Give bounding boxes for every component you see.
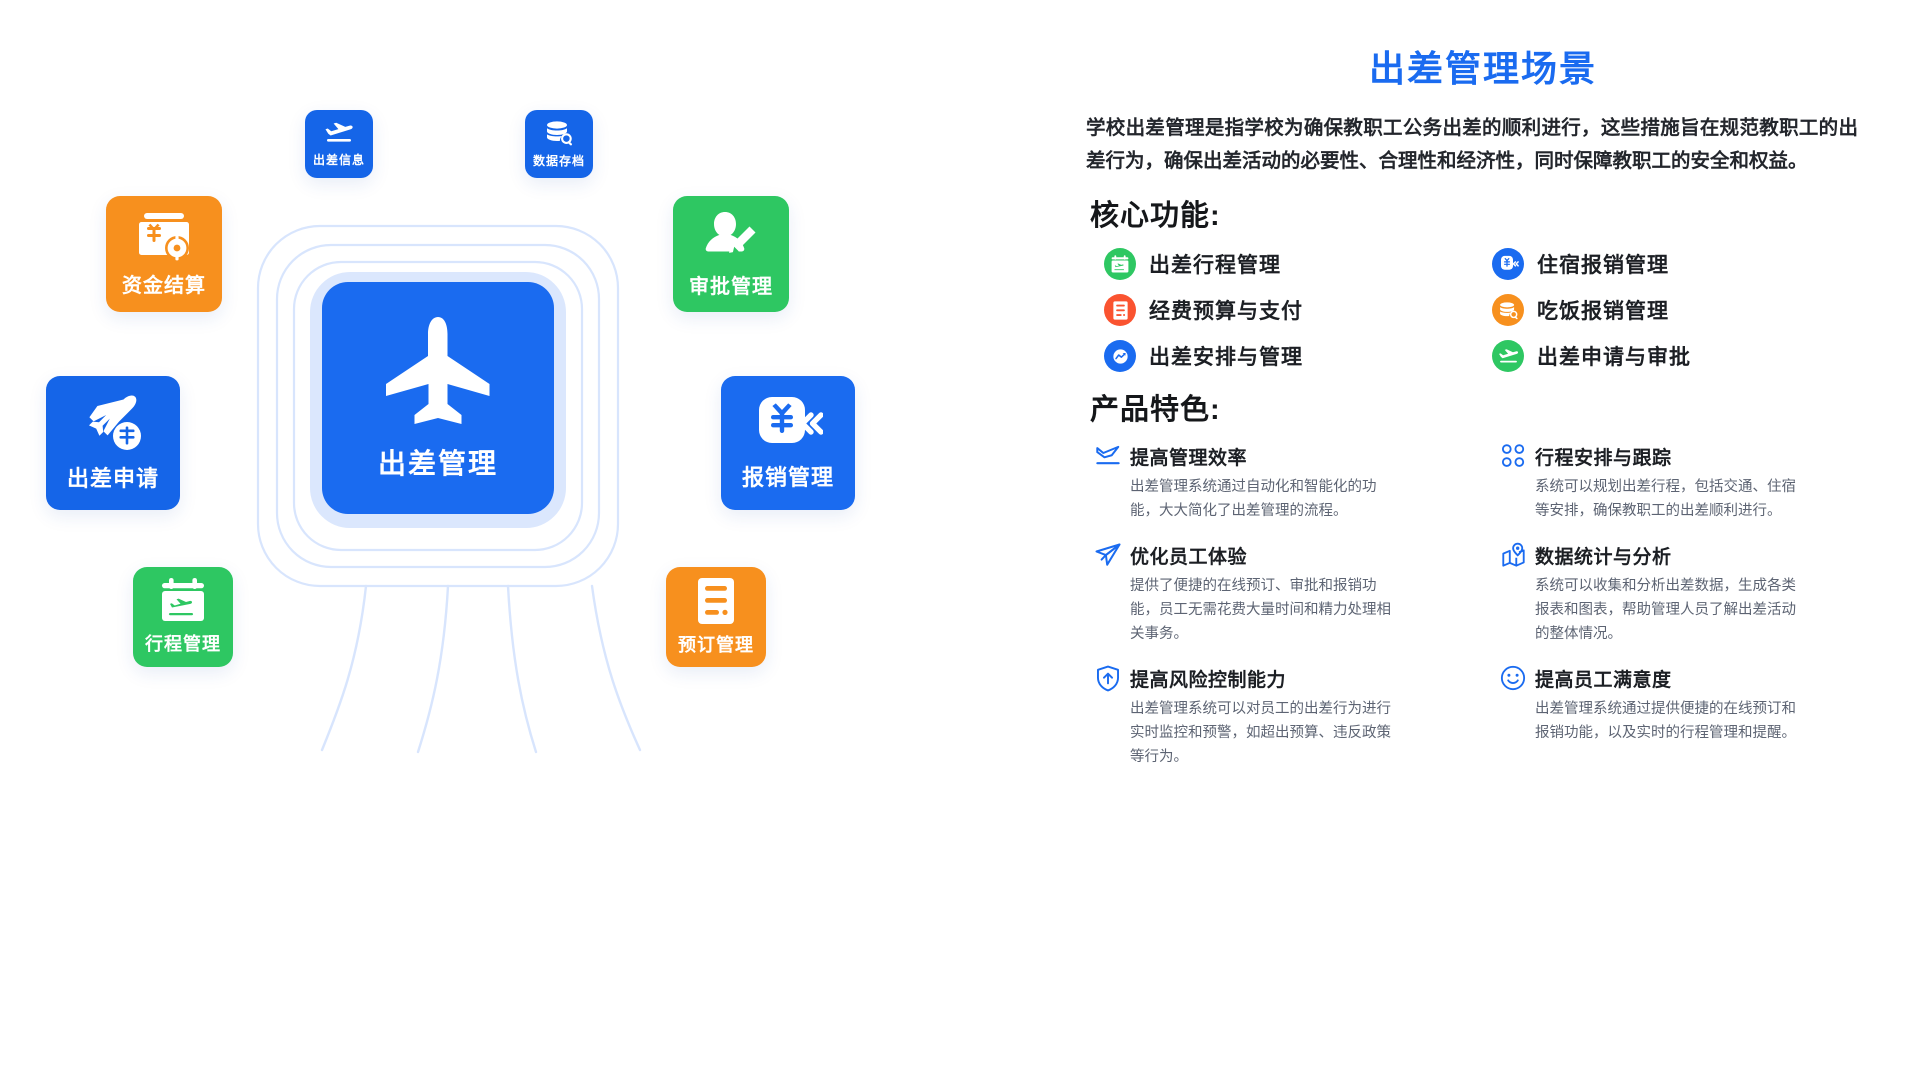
feature-item[interactable]: 提高管理效率 出差管理系统通过自动化和智能化的功能，大大简化了出差管理的流程。	[1094, 442, 1475, 523]
diagram-card-approval[interactable]: 审批管理	[673, 196, 789, 312]
core-function-item[interactable]: 出差申请与审批	[1492, 340, 1880, 372]
core-functions-grid: 出差行程管理	[1104, 248, 1880, 372]
diagram-card-booking[interactable]: 预订管理	[666, 567, 766, 667]
feature-item[interactable]: 提高员工满意度 出差管理系统通过提供便捷的在线预订和报销功能，以及实时的行程管理…	[1499, 664, 1880, 769]
plane-landing-icon	[1094, 442, 1122, 470]
feature-title: 优化员工体验	[1130, 542, 1247, 569]
diagram-card-data-archive[interactable]: 数据存档	[525, 110, 593, 178]
shield-arrow-up-icon	[1094, 664, 1122, 692]
diagram-card-label: 资金结算	[122, 269, 206, 298]
content-panel: 出差管理场景 学校出差管理是指学校为确保教职工公务出差的顺利进行，这些措施旨在规…	[1080, 0, 1920, 1080]
diagram-card-label: 行程管理	[145, 630, 221, 656]
plane-takeoff-icon	[324, 121, 354, 145]
yuan-card-icon	[1492, 248, 1524, 280]
database-search-icon	[544, 120, 574, 146]
paper-plane-icon	[1094, 541, 1122, 569]
four-circles-icon	[1499, 442, 1527, 470]
feature-header: 提高管理效率	[1094, 442, 1475, 470]
plane-takeoff-icon	[1492, 340, 1524, 372]
intro-paragraph: 学校出差管理是指学校为确保教职工公务出差的顺利进行，这些措施旨在规范教职工的出差…	[1086, 112, 1880, 178]
airplane-icon	[376, 315, 500, 432]
wallet-gear-icon	[135, 211, 193, 263]
map-pin-icon	[1499, 541, 1527, 569]
feature-description: 系统可以规划出差行程，包括交通、住宿等安排，确保教职工的出差顺利进行。	[1535, 475, 1800, 523]
features-heading: 产品特色:	[1090, 386, 1880, 428]
features-grid: 提高管理效率 出差管理系统通过自动化和智能化的功能，大大简化了出差管理的流程。	[1094, 442, 1880, 769]
core-function-item[interactable]: 出差行程管理	[1104, 248, 1492, 280]
diagram-card-label: 报销管理	[742, 460, 834, 492]
core-function-item[interactable]: 住宿报销管理	[1492, 248, 1880, 280]
feature-description: 出差管理系统可以对员工的出差行为进行实时监控和预警，如超出预算、违反政策等行为。	[1130, 697, 1395, 769]
feature-header: 优化员工体验	[1094, 541, 1475, 569]
feature-item[interactable]: 行程安排与跟踪 系统可以规划出差行程，包括交通、住宿等安排，确保教职工的出差顺利…	[1499, 442, 1880, 523]
smiley-face-icon	[1499, 664, 1527, 692]
feature-header: 提高风险控制能力	[1094, 664, 1475, 692]
diagram-card-trip-info[interactable]: 出差信息	[305, 110, 373, 178]
calendar-plane-icon	[1104, 248, 1136, 280]
core-function-label: 经费预算与支付	[1149, 295, 1303, 325]
feature-title: 提高管理效率	[1130, 443, 1247, 470]
diagram-card-reimbursement[interactable]: 报销管理	[721, 376, 855, 510]
document-lines-icon	[695, 577, 737, 625]
feature-description: 出差管理系统通过提供便捷的在线预订和报销功能，以及实时的行程管理和提醒。	[1535, 697, 1800, 745]
diagram-card-label: 预订管理	[678, 631, 754, 657]
diagram-card-fund-settlement[interactable]: 资金结算	[106, 196, 222, 312]
yuan-refund-icon	[753, 394, 823, 454]
core-function-label: 出差行程管理	[1149, 249, 1281, 279]
core-function-label: 住宿报销管理	[1537, 249, 1669, 279]
feature-header: 数据统计与分析	[1499, 541, 1880, 569]
feature-title: 数据统计与分析	[1535, 542, 1672, 569]
document-lines-icon	[1104, 294, 1136, 326]
core-function-label: 吃饭报销管理	[1537, 295, 1669, 325]
feature-item[interactable]: 数据统计与分析 系统可以收集和分析出差数据，生成各类报表和图表，帮助管理人员了解…	[1499, 541, 1880, 646]
core-function-label: 出差申请与审批	[1537, 341, 1691, 371]
feature-description: 出差管理系统通过自动化和智能化的功能，大大简化了出差管理的流程。	[1130, 475, 1395, 523]
feature-header: 行程安排与跟踪	[1499, 442, 1880, 470]
core-function-item[interactable]: 经费预算与支付	[1104, 294, 1492, 326]
core-function-item[interactable]: 出差安排与管理	[1104, 340, 1492, 372]
plane-apply-icon	[78, 393, 148, 455]
stand-legs	[322, 586, 640, 752]
diagram-card-label: 出差信息	[313, 151, 365, 168]
diagram-card-label: 数据存档	[533, 152, 585, 169]
diagram-illustration: 出差管理 出差信息 数据存档	[0, 0, 1080, 1080]
calendar-plane-icon	[158, 578, 208, 624]
page-title: 出差管理场景	[1086, 40, 1880, 92]
diagram-card-label: 审批管理	[689, 270, 773, 299]
feature-title: 行程安排与跟踪	[1535, 443, 1672, 470]
feature-title: 提高员工满意度	[1535, 665, 1672, 692]
feature-item[interactable]: 优化员工体验 提供了便捷的在线预订、审批和报销功能，员工无需花费大量时间和精力处…	[1094, 541, 1475, 646]
feature-description: 提供了便捷的在线预订、审批和报销功能，员工无需花费大量时间和精力处理相关事务。	[1130, 574, 1395, 646]
core-function-item[interactable]: 吃饭报销管理	[1492, 294, 1880, 326]
feature-description: 系统可以收集和分析出差数据，生成各类报表和图表，帮助管理人员了解出差活动的整体情…	[1535, 574, 1800, 646]
hub-label: 出差管理	[378, 442, 498, 482]
feature-title: 提高风险控制能力	[1130, 665, 1286, 692]
chart-wave-icon	[1104, 340, 1136, 372]
feature-item[interactable]: 提高风险控制能力 出差管理系统可以对员工的出差行为进行实时监控和预警，如超出预算…	[1094, 664, 1475, 769]
diagram-card-itinerary[interactable]: 行程管理	[133, 567, 233, 667]
user-edit-icon	[703, 210, 759, 264]
coins-search-icon	[1492, 294, 1524, 326]
page-root: 出差管理 出差信息 数据存档	[0, 0, 1920, 1080]
core-functions-heading: 核心功能:	[1090, 192, 1880, 234]
diagram-card-trip-apply[interactable]: 出差申请	[46, 376, 180, 510]
hub-card-travel-management[interactable]: 出差管理	[322, 282, 554, 514]
diagram-card-label: 出差申请	[67, 461, 159, 493]
feature-header: 提高员工满意度	[1499, 664, 1880, 692]
core-function-label: 出差安排与管理	[1149, 341, 1303, 371]
